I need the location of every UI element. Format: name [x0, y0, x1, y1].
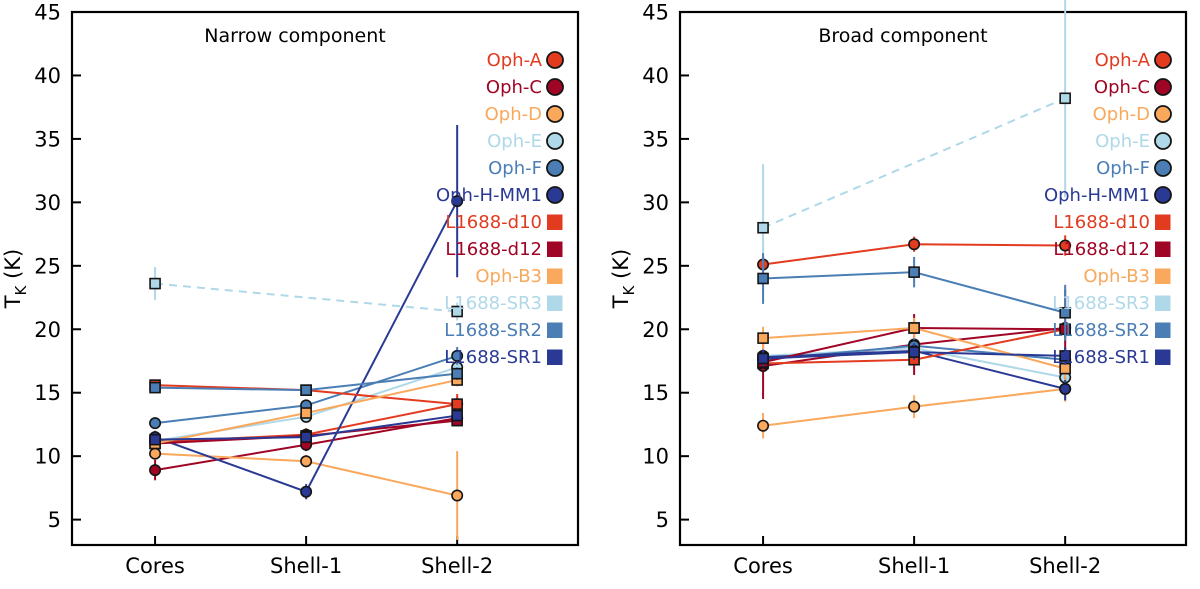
data-point-square — [150, 435, 160, 445]
y-tick-label-35: 35 — [642, 127, 669, 151]
legend-marker-circle-oph-h-mm1 — [547, 187, 563, 203]
legend-marker-square-l1688-sr3 — [1155, 296, 1171, 312]
legend-marker-circle-oph-e — [547, 133, 563, 149]
data-point-circle — [909, 401, 919, 411]
legend-marker-circle-oph-d — [1155, 106, 1171, 122]
y-tick-label-40: 40 — [34, 64, 61, 88]
legend-marker-circle-oph-a — [547, 52, 563, 68]
data-point-circle — [150, 418, 160, 428]
legend-label-l1688-d12: L1688-d12 — [1053, 239, 1150, 260]
legend-label-oph-b3: Oph-B3 — [1083, 266, 1150, 287]
data-point-square — [452, 369, 462, 379]
y-axis-left: 51015202530354045 — [34, 1, 81, 533]
y-tick-label-30: 30 — [34, 191, 61, 215]
legend-label-oph-f: Oph-F — [488, 158, 542, 179]
legend-marker-circle-oph-c — [1155, 79, 1171, 95]
legend-label-oph-a: Oph-A — [487, 50, 543, 71]
legend-label-l1688-d10: L1688-d10 — [445, 212, 542, 233]
y-axis-title-left: TK (K) — [1, 249, 30, 310]
x-tick-label-shell-2: Shell-2 — [421, 554, 493, 578]
legend-marker-square-l1688-d12 — [547, 242, 563, 258]
legend-marker-circle-oph-f — [1155, 160, 1171, 176]
legend-marker-circle-oph-h-mm1 — [1155, 187, 1171, 203]
legend-label-l1688-d12: L1688-d12 — [445, 239, 542, 260]
data-point-square — [301, 385, 311, 395]
data-point-circle — [452, 490, 462, 500]
legend-label-l1688-sr1: L1688-SR1 — [444, 347, 542, 368]
legend-label-l1688-sr2: L1688-SR2 — [444, 320, 542, 341]
y-tick-label-20: 20 — [642, 318, 669, 342]
legend-marker-square-l1688-sr2 — [1155, 323, 1171, 339]
legend-label-oph-b3: Oph-B3 — [475, 266, 542, 287]
data-point-square — [909, 323, 919, 333]
data-point-square — [758, 274, 768, 284]
panel-title-left: Narrow component — [204, 25, 385, 47]
y-axis-right: 51015202530354045 — [642, 1, 689, 533]
figure-root: 51015202530354045CoresShell-1Shell-2TK (… — [0, 0, 1200, 589]
two-panel-temperature-figure: 51015202530354045CoresShell-1Shell-2TK (… — [0, 0, 1200, 589]
series-layer-right — [758, 0, 1070, 438]
series-oph-d-right — [758, 376, 1070, 438]
series-l1688-sr3-left — [150, 267, 462, 320]
legend-marker-square-oph-b3 — [547, 269, 563, 285]
y-tick-label-25: 25 — [642, 254, 669, 278]
legend-marker-square-l1688-sr2 — [547, 323, 563, 339]
legend-label-oph-c: Oph-C — [1094, 77, 1150, 98]
y-tick-label-15: 15 — [642, 381, 669, 405]
legend-label-l1688-sr1: L1688-SR1 — [1052, 347, 1150, 368]
data-point-circle — [758, 421, 768, 431]
legend-marker-square-l1688-d10 — [1155, 215, 1171, 231]
y-tick-label-45: 45 — [642, 1, 669, 25]
legend-marker-square-l1688-sr3 — [547, 296, 563, 312]
legend-marker-square-l1688-sr1 — [1155, 350, 1171, 366]
data-point-square — [1060, 93, 1070, 103]
legend-label-oph-h-mm1: Oph-H-MM1 — [436, 185, 542, 206]
y-tick-label-20: 20 — [34, 318, 61, 342]
x-tick-label-cores: Cores — [733, 554, 793, 578]
data-point-circle — [150, 448, 160, 458]
legend-left: Oph-AOph-COph-DOph-EOph-FOph-H-MM1L1688-… — [436, 50, 563, 368]
legend-label-oph-d: Oph-D — [1093, 104, 1150, 125]
y-tick-label-15: 15 — [34, 381, 61, 405]
legend-label-oph-e: Oph-E — [1095, 131, 1150, 152]
data-point-square — [758, 353, 768, 363]
legend-marker-circle-oph-a — [1155, 52, 1171, 68]
legend-label-l1688-d10: L1688-d10 — [1053, 212, 1150, 233]
legend-marker-square-l1688-d10 — [547, 215, 563, 231]
x-tick-label-shell-1: Shell-1 — [270, 554, 342, 578]
y-tick-label-40: 40 — [642, 64, 669, 88]
data-point-square — [758, 223, 768, 233]
y-tick-label-35: 35 — [34, 127, 61, 151]
data-point-square — [301, 408, 311, 418]
legend-marker-circle-oph-f — [547, 160, 563, 176]
series-line — [763, 98, 1065, 227]
legend-marker-square-l1688-sr1 — [547, 350, 563, 366]
data-point-square — [150, 279, 160, 289]
y-tick-label-25: 25 — [34, 254, 61, 278]
x-axis-right: CoresShell-1Shell-2 — [733, 536, 1101, 578]
legend-marker-square-l1688-d12 — [1155, 242, 1171, 258]
legend-label-l1688-sr2: L1688-SR2 — [1052, 320, 1150, 341]
y-tick-label-45: 45 — [34, 1, 61, 25]
x-tick-label-cores: Cores — [125, 554, 185, 578]
legend-label-oph-h-mm1: Oph-H-MM1 — [1044, 185, 1150, 206]
data-point-square — [452, 399, 462, 409]
y-axis-title-text-left: TK (K) — [1, 249, 30, 310]
legend-marker-circle-oph-e — [1155, 133, 1171, 149]
data-point-circle — [1060, 384, 1070, 394]
data-point-square — [909, 347, 919, 357]
data-point-square — [301, 432, 311, 442]
legend-label-oph-f: Oph-F — [1096, 158, 1150, 179]
legend-label-oph-c: Oph-C — [486, 77, 542, 98]
panel-right: 51015202530354045CoresShell-1Shell-2TK (… — [609, 0, 1186, 578]
panel-title-right: Broad component — [818, 25, 987, 47]
legend-marker-circle-oph-c — [547, 79, 563, 95]
data-point-square — [758, 333, 768, 343]
y-tick-label-5: 5 — [656, 508, 669, 532]
x-tick-label-shell-2: Shell-2 — [1029, 554, 1101, 578]
y-tick-label-10: 10 — [642, 445, 669, 469]
legend-label-l1688-sr3: L1688-SR3 — [444, 293, 542, 314]
data-point-square — [909, 267, 919, 277]
legend-label-oph-a: Oph-A — [1095, 50, 1151, 71]
x-tick-label-shell-1: Shell-1 — [878, 554, 950, 578]
data-point-square — [150, 383, 160, 393]
y-axis-title-text-right: TK (K) — [609, 249, 638, 310]
data-point-circle — [301, 456, 311, 466]
legend-label-oph-d: Oph-D — [485, 104, 542, 125]
series-layer-left — [150, 125, 462, 540]
y-tick-label-30: 30 — [642, 191, 669, 215]
data-point-circle — [301, 487, 311, 497]
legend-marker-circle-oph-d — [547, 106, 563, 122]
legend-label-l1688-sr3: L1688-SR3 — [1052, 293, 1150, 314]
y-tick-label-10: 10 — [34, 445, 61, 469]
y-tick-label-5: 5 — [48, 508, 61, 532]
legend-marker-square-oph-b3 — [1155, 269, 1171, 285]
x-axis-left: CoresShell-1Shell-2 — [125, 536, 493, 578]
y-axis-title-right: TK (K) — [609, 249, 638, 310]
panel-left: 51015202530354045CoresShell-1Shell-2TK (… — [1, 1, 578, 579]
legend-label-oph-e: Oph-E — [487, 131, 542, 152]
data-point-circle — [150, 465, 160, 475]
data-point-circle — [909, 239, 919, 249]
data-point-square — [452, 411, 462, 421]
